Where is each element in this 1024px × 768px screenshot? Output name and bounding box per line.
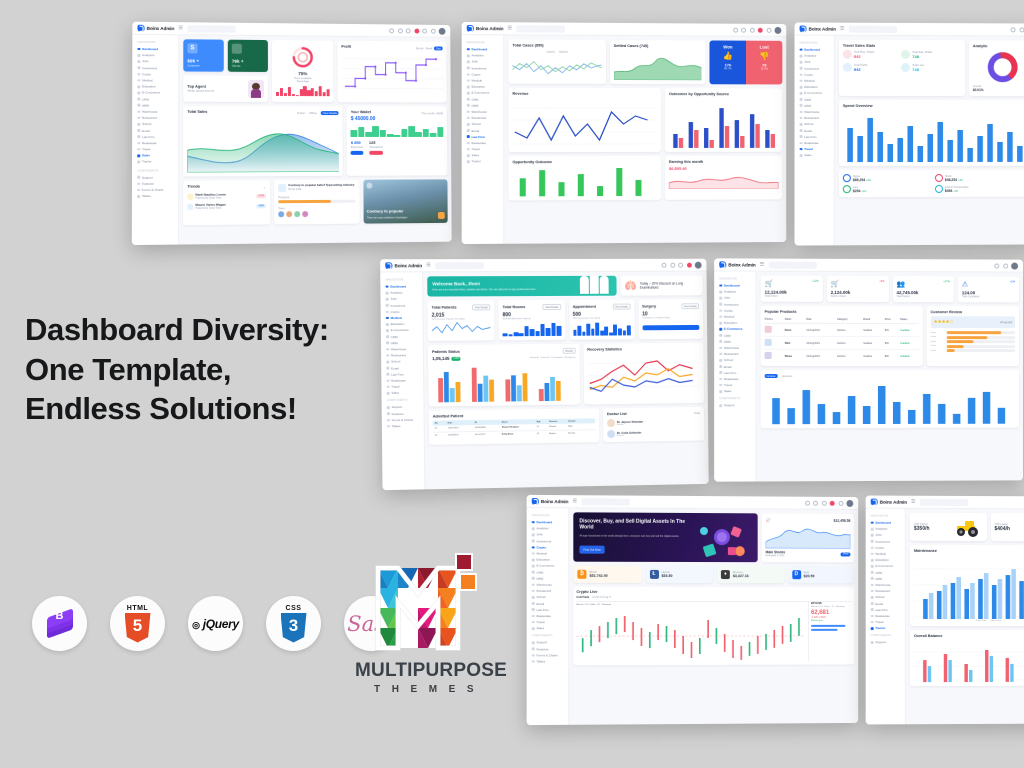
return-orders-icon: 🛒 <box>831 280 840 288</box>
bitcoin-value: $52,742.40 <box>590 574 608 578</box>
table-row[interactable]: Dress 24/Aug/2021 Fashion Swallow $45 Av… <box>765 324 919 337</box>
product-thumb <box>765 326 772 333</box>
team-label: Team <box>278 206 356 211</box>
total-sales-button[interactable]: View Details <box>321 111 339 115</box>
stocks-chart-icon: 📈 <box>766 517 771 522</box>
jcb-loader-value: $404/h <box>994 526 1010 532</box>
complaints-change: +2% <box>1010 280 1015 283</box>
wallet-amount: $ 45000.00 <box>351 116 443 122</box>
popular-products-title: Popular Products <box>765 310 919 314</box>
hotels-icon <box>935 174 943 182</box>
patients-status-chart <box>432 361 576 403</box>
jquery-icon: ◎ jQuery <box>188 596 243 651</box>
maintenance-title: Maintenance <box>914 549 1024 553</box>
hotels-value: $48,254 <box>945 177 957 181</box>
sidebar-item-tractor[interactable]: Tractor <box>869 625 902 631</box>
sidebar-item-sales[interactable]: Sales <box>798 152 831 158</box>
litecoin-value: $53.50 <box>661 574 672 578</box>
brand-logo-subtitle: T H E M E S <box>355 684 497 695</box>
app-logo-icon <box>385 262 392 269</box>
patients-status-title: Patients Status <box>432 350 460 354</box>
headline-line-3: Endless Solutions! <box>25 389 329 429</box>
dashboard-tractor[interactable]: Boinx Admin ☰ NAVIGATION Dashboard Analy… <box>866 496 1024 725</box>
sidebar: NAVIGATION Dashboard Analytics Jobs Inve… <box>527 508 570 725</box>
menu-toggle-icon[interactable]: ☰ <box>911 499 916 505</box>
app-name: Boinx Admin <box>394 263 422 268</box>
dashboard-crypto[interactable]: Boinx Admin ☰ NAVIGATION Dashboard Analy… <box>527 495 859 725</box>
jcb-tractor-value: $350/h <box>914 525 930 531</box>
sidebar-header: NAVIGATION <box>467 41 501 44</box>
ground-transport-icon <box>935 185 943 193</box>
profit-btn-day[interactable]: Day <box>434 46 442 50</box>
gauge-sub: Percentage <box>276 80 330 83</box>
cars-value: $254 <box>853 189 861 193</box>
outcomes-chart <box>669 98 778 148</box>
analytic-donut-chart <box>985 50 1019 84</box>
sale-tickets-icon <box>901 50 910 59</box>
css3-label: CSS <box>279 605 309 612</box>
trends-title: Trends <box>187 185 200 189</box>
trend-tag-2: +08% <box>256 204 266 208</box>
app-name: Boinx Admin <box>147 25 175 30</box>
orders-label: Total Orders <box>765 295 819 298</box>
tech-badge-list: B HTML ◎ jQuery CSS Sass <box>32 596 399 651</box>
search-input[interactable] <box>187 25 235 32</box>
cars-icon <box>843 185 851 193</box>
sidebar-header: NAVIGATION <box>719 277 752 280</box>
image-card[interactable]: Contrary to popular There are many varia… <box>364 179 448 223</box>
surgery-button[interactable]: View Details <box>681 303 699 309</box>
topbar: Boinx Admin ☰ <box>714 258 1023 272</box>
sidebar-header: NAVIGATION <box>385 278 419 281</box>
crypto-live-toolbar[interactable]: 1m 5m 1h D ▤ ☷ <box>592 596 611 599</box>
candlestick-chart <box>576 608 805 662</box>
jquery-label: jQuery <box>203 617 239 631</box>
logo-mark-icon <box>368 552 484 656</box>
thumbs-down-icon: 👎 <box>750 52 778 61</box>
ground-transport-change: +1% <box>953 189 958 192</box>
sidebar-item-sales[interactable]: Sales <box>385 390 421 397</box>
product-thumb <box>765 352 772 359</box>
sidebar: NAVIGATION Dashboard Analytics Jobs Inve… <box>132 35 179 245</box>
total-sales-chart <box>187 116 339 173</box>
clients-label: Clients <box>232 64 264 68</box>
table-row[interactable]: Shirt 24/Aug/2021 Fashion Swallow $50 Av… <box>765 337 919 350</box>
surgery-title: Surgery <box>642 305 656 309</box>
customer-label: Customer <box>187 63 219 67</box>
fullscreen-icon[interactable] <box>838 500 843 505</box>
dashboard-travel[interactable]: Boinx Admin ☰ NAVIGATION Dashboard Analy… <box>794 22 1024 245</box>
main-stocks-value: $12,458.58 <box>834 518 851 522</box>
legend-emergency: Emergency <box>564 356 575 358</box>
html5-label: HTML <box>123 605 153 612</box>
menu-toggle-icon[interactable]: ☰ <box>178 25 183 31</box>
app-logo-icon <box>719 261 726 268</box>
profits-value: 842 <box>854 66 868 71</box>
app-logo-icon <box>871 498 878 505</box>
avatar[interactable] <box>846 499 853 506</box>
gear-icon[interactable] <box>670 262 675 267</box>
gear-icon[interactable] <box>397 28 402 33</box>
dash-value: $20.59 <box>804 574 815 578</box>
wallet-title: Your Wallet <box>351 110 371 114</box>
sidebar-item-support[interactable]: Support <box>869 639 902 645</box>
analytic-legend-value: 80.01% <box>973 88 1024 92</box>
return-orders-change: +5% <box>879 280 884 283</box>
won-label: Won <box>714 44 743 49</box>
menu-toggle-icon[interactable]: ☰ <box>840 26 845 32</box>
moon-icon[interactable] <box>733 27 738 32</box>
opportunity-title: Opportunity Outcome <box>512 160 657 164</box>
chat-icon[interactable] <box>749 27 754 32</box>
flights-icon <box>843 174 851 182</box>
sidebar-header: NAVIGATION <box>800 42 831 45</box>
main-stocks-chart <box>766 522 851 548</box>
headline-line-2: One Template, <box>25 350 329 390</box>
surgery-sub: 5 Surgeries scheduled Today <box>642 317 699 319</box>
table-row[interactable]: Shoes 24/Aug/2021 Fashion Swallow $80 Av… <box>765 350 919 362</box>
trend-sub-2: Powered by Study Tests <box>195 207 225 210</box>
customer-review-title: Customer Review <box>930 310 1015 314</box>
litecoin-icon: Ł <box>649 570 658 579</box>
notification-icon[interactable] <box>830 500 835 505</box>
app-name: Boinx Admin <box>880 499 907 504</box>
page-title: Dashboard Diversity: One Template, Endle… <box>25 310 329 429</box>
req-tickets-icon <box>843 50 852 59</box>
sidebar-footer-header: COMPONENTS <box>387 399 421 402</box>
search-input[interactable] <box>919 498 967 505</box>
building-icon <box>232 44 242 54</box>
crypto-live-title: Crypto Live <box>576 590 851 594</box>
table-header: Photos Name Date Category Brand Price St… <box>765 316 919 324</box>
crypto-pair-sub: Bitcoin / U.S. Dollar · 1D · Bitstamp <box>811 606 851 608</box>
transaction-label: Transaction <box>369 145 383 149</box>
dash-icon: D <box>792 570 801 579</box>
crypto-symbol: BTCUSD <box>811 602 851 605</box>
main-stocks-button[interactable]: View <box>841 552 850 556</box>
notification-icon[interactable] <box>414 28 419 33</box>
app-name: Boinx Admin <box>476 26 503 31</box>
topbar: Boinx Admin ☰ <box>794 22 1024 36</box>
app-name: Boinx Admin <box>541 499 568 504</box>
gauge-icon <box>290 45 316 69</box>
sidebar-footer-header: COMPONENTS <box>137 169 175 172</box>
loss-icon <box>901 63 910 72</box>
total-sales-title: Total Sales <box>187 110 207 114</box>
revenue-title: Revenue <box>512 92 657 96</box>
moon-icon[interactable] <box>994 263 999 268</box>
sidebar-item-tractor[interactable]: Tractor <box>135 159 175 165</box>
surgery-progress-bar <box>642 325 699 330</box>
table-row[interactable]: 02 12/06/2021 001-61277 Kelly Reed 31 An… <box>433 431 595 439</box>
legend-other-total: Other Total <box>990 620 1001 622</box>
avatar <box>607 419 615 427</box>
revenue-chart <box>512 98 657 148</box>
moon-icon[interactable] <box>805 500 810 505</box>
search-input[interactable] <box>848 25 896 32</box>
dashboard-medical[interactable]: Boinx Admin ☰ NAVIGATION Dashboard Analy… <box>380 259 709 490</box>
spend-overview-chart <box>843 110 1024 162</box>
profits-icon <box>843 63 852 72</box>
appointment-button[interactable]: View Details <box>612 304 630 310</box>
list-item[interactable]: Dr. Jayson Shantani Dentist <box>607 418 700 427</box>
admitted-title: Admitted Patient <box>433 414 464 418</box>
doctors-illustration <box>580 276 609 294</box>
menu-toggle-icon[interactable]: ☰ <box>507 25 512 31</box>
profit-btn-week[interactable]: Week <box>426 46 433 50</box>
crypto-status: Market open <box>811 620 851 622</box>
agent-avatar <box>248 80 264 98</box>
wallet-period: This month +$100 <box>421 111 443 115</box>
sidebar-item-tables[interactable]: Tables <box>530 658 566 664</box>
chevron-down-icon[interactable]: ⌄ <box>263 184 266 190</box>
dashboard-ecommerce[interactable]: Boinx Admin ☰ NAVIGATION Dashboard Analy… <box>714 258 1023 481</box>
total-rooms-button[interactable]: View Details <box>543 304 561 310</box>
crypto-illustration <box>694 521 752 562</box>
legend-patient-b: Patient B <box>541 357 550 359</box>
sidebar: NAVIGATION Dashboard Analytics Jobs Inve… <box>714 271 756 481</box>
overall-balance-chart <box>914 640 1024 682</box>
legend-settled: Settled <box>559 50 568 54</box>
orders-change: +12% <box>812 280 819 283</box>
bootstrap-icon: B <box>32 596 87 651</box>
legend-patient-a: Patient A <box>530 357 539 359</box>
topbar: Boinx Admin ☰ <box>380 259 706 273</box>
total-cases-chart <box>512 53 601 77</box>
main-stocks-sub: Estimated in USD <box>766 554 786 557</box>
html5-icon: HTML <box>110 596 165 651</box>
app-logo-icon <box>800 25 807 32</box>
sidebar: NAVIGATION Dashboard Analytics Jobs Inve… <box>380 272 425 490</box>
sidebar: NAVIGATION Dashboard Analytics Jobs Inve… <box>462 35 505 244</box>
flag-icon[interactable] <box>430 28 435 33</box>
income-chart <box>765 378 1015 424</box>
thumbs-up-icon: 👍 <box>714 51 743 60</box>
sidebar-footer-header: COMPONENTS <box>532 635 566 638</box>
welcome-sub: Here are your important facts, updates a… <box>432 288 540 292</box>
chat-icon[interactable] <box>821 500 826 505</box>
total-rooms-sub: 8000 Available Bed Capacity <box>503 318 561 320</box>
progress-label: Progress <box>278 195 356 199</box>
search-input[interactable] <box>768 261 816 268</box>
list-item[interactable]: Dr. Carla Schlesfer Dentist <box>607 429 700 438</box>
menu-toggle-icon[interactable]: ☰ <box>426 262 431 268</box>
settled-cases-chart <box>614 50 702 80</box>
crypto-live-pair: Bitcoin / U.S. Dollar · 1D · Bitstamp <box>576 604 805 606</box>
progress-bar <box>278 200 356 204</box>
fullscreen-icon[interactable] <box>422 28 427 33</box>
brand-logo-title: MULTIPURPOSE <box>355 660 497 682</box>
moon-icon[interactable] <box>1011 27 1016 32</box>
patients-status-button[interactable]: Weekly <box>563 348 576 354</box>
gear-icon[interactable] <box>813 500 818 505</box>
crypto-change: -1,299 -2.84% <box>811 616 851 619</box>
outcomes-title: Outcomes by Opportunity Source <box>669 92 778 96</box>
menu-toggle-icon[interactable]: ☰ <box>572 498 577 504</box>
appointment-title: Appointment <box>573 305 596 309</box>
legend-online: Online <box>297 111 305 115</box>
crypto-hero-sub: All type blockchain in the world already… <box>579 534 679 538</box>
trend-sub-1: Powered by Study Tests <box>195 197 225 200</box>
search-input[interactable] <box>581 498 629 505</box>
orders-icon: 🛒 <box>765 280 774 288</box>
promo-text: Today – 20% Discount on Lung Examination… <box>640 281 699 289</box>
legend-inquiry: Inquiry <box>546 50 554 54</box>
css3-icon: CSS <box>266 596 321 651</box>
legend-discharged: Discharged <box>551 357 562 359</box>
patients-status-badge: +12% <box>451 357 460 361</box>
return-orders-label: Return Orders <box>831 295 885 298</box>
sidebar-footer-header: COMPONENTS <box>871 634 902 637</box>
image-card-sub: There are many variations of passages <box>367 216 408 219</box>
complaints-label: Total Complaints <box>962 295 1015 298</box>
image-card-caption: Contrary to popular <box>367 208 404 213</box>
notification-icon[interactable] <box>686 262 691 267</box>
hotels-change: +3% <box>958 178 963 181</box>
top-agent-sub: Whati Jaracis Demoli <box>187 89 214 93</box>
crypto-hero-title: Discover, Buy, and Sell Digital Assets I… <box>579 518 686 531</box>
lost-pct: 15.3% <box>750 67 778 70</box>
overall-balance-title: Overall Balance <box>914 634 1024 638</box>
spend-overview-title: Spend Overview <box>843 104 1024 108</box>
complaints-icon: ⚠ <box>962 280 968 288</box>
bootstrap-letter: B <box>56 610 64 622</box>
tab-expense[interactable]: Expense <box>780 374 794 378</box>
visitors-change: +27% <box>943 280 950 283</box>
dashboard-sales[interactable]: Boinx Admin ☰ NAVIGATION Dashboard Analy… <box>132 22 452 245</box>
settled-cases-title: Settled Cases (745) <box>614 44 702 48</box>
headline-line-1: Dashboard Diversity: <box>25 310 329 350</box>
loss-value: 748 <box>912 66 924 71</box>
total-rooms-title: Total Rooms <box>503 305 526 309</box>
sidebar-item-support[interactable]: Support <box>717 403 752 409</box>
doctor-list-title: Doctor List <box>607 412 627 416</box>
profit-title: Profit <box>341 45 351 49</box>
sidebar-item-sales[interactable]: Sales <box>530 625 566 631</box>
analytic-title: Analytic <box>973 44 1024 48</box>
req-tickets-value: 842 <box>854 53 875 58</box>
sidebar-item-tractor[interactable]: Tractor <box>465 159 501 165</box>
opportunity-chart <box>512 166 657 196</box>
sidebar: NAVIGATION Dashboard Analytics Jobs Inve… <box>866 509 906 725</box>
gear-icon[interactable] <box>741 27 746 32</box>
image-card-action-button[interactable] <box>438 212 445 219</box>
legend-time-total: Time Total <box>976 620 986 622</box>
menu-toggle-icon[interactable]: ☰ <box>760 262 765 268</box>
won-pct: 84.7% <box>714 67 743 70</box>
sale-tickets-value: 748 <box>912 53 932 58</box>
progress-card-date: 05 Jan 2024 <box>288 187 354 190</box>
travel-stats-title: Travel Sales Stats <box>843 44 961 48</box>
brand-logo: MULTIPURPOSE T H E M E S <box>355 552 497 695</box>
appointment-sub: 24% Increased in This Week <box>573 318 631 320</box>
search-input[interactable] <box>435 262 484 269</box>
sidebar: NAVIGATION Dashboard Analytics Jobs Inve… <box>794 36 834 246</box>
expenses-label: Expenses <box>351 145 363 149</box>
avatar[interactable] <box>774 26 781 33</box>
flights-change: +5% <box>866 179 871 182</box>
total-cases-title: Total Cases (850) <box>512 43 543 47</box>
trend-tag-1: +15% <box>256 194 266 198</box>
sidebar-footer-header: COMPONENTS <box>719 397 752 400</box>
image-card-avatar <box>367 183 373 189</box>
visitors-icon: 👥 <box>896 280 905 288</box>
doctor-list-period: Today <box>694 412 700 415</box>
sidebar-header: NAVIGATION <box>532 514 566 517</box>
cars-change: +1% <box>861 190 866 193</box>
notification-icon[interactable] <box>758 27 763 32</box>
product-thumb <box>765 339 772 346</box>
flights-value: $85,254 <box>853 178 865 182</box>
legend-offline: Offline <box>309 111 317 115</box>
star-rating-icon: ★★★★☆ <box>933 319 953 325</box>
gear-icon[interactable] <box>1003 263 1008 268</box>
topbar: Boinx Admin ☰ <box>866 496 1024 510</box>
crypto-live-button[interactable]: CoinTrade <box>576 596 589 599</box>
ethereum-value: $3,327.16 <box>733 574 749 578</box>
rating-value: 4.5 out of 5 <box>1000 321 1012 324</box>
promo-banner: Dashboard Diversity: One Template, Endle… <box>0 0 1024 768</box>
app-name: Boinx Admin <box>809 26 836 31</box>
profit-btn-month[interactable]: Month <box>416 46 424 50</box>
find-out-now-button[interactable]: Find Out Now <box>579 545 604 553</box>
customer-icon: S <box>187 43 197 53</box>
maintenance-chart <box>914 555 1024 619</box>
recovery-title: Recovery Statistics <box>587 347 699 352</box>
earning-title: Earning this month <box>669 160 778 164</box>
chat-icon[interactable] <box>678 262 683 267</box>
lungs-icon: 🫁 <box>625 280 637 291</box>
chat-icon[interactable] <box>406 28 411 33</box>
sidebar-item-sales[interactable]: Sales <box>717 388 752 394</box>
app-logo-icon <box>532 497 539 504</box>
app-logo-icon <box>467 25 474 32</box>
dashboard-law-firm[interactable]: Boinx Admin ☰ NAVIGATION Dashboard Analy… <box>462 22 787 244</box>
avatar <box>607 430 615 438</box>
moon-icon[interactable] <box>662 262 667 267</box>
visitors-label: Total Visitors <box>896 295 949 298</box>
bitcoin-icon: ₿ <box>577 570 586 579</box>
app-name: Boinx Admin <box>728 262 755 267</box>
earning-chart <box>669 171 778 189</box>
app-logo-icon <box>137 24 144 31</box>
patients-status-value: 1,05,145 <box>432 356 449 361</box>
total-patients-button[interactable]: View Details <box>472 305 490 311</box>
sidebar-item-tables[interactable]: Tables <box>385 423 421 430</box>
avatar[interactable] <box>695 261 702 268</box>
total-patients-title: Total Patients <box>432 306 457 310</box>
gear-icon[interactable] <box>1019 27 1024 32</box>
ethereum-icon: ♦ <box>721 570 730 579</box>
avatar[interactable] <box>439 27 446 34</box>
sidebar-header: NAVIGATION <box>137 41 175 44</box>
ground-transport-value: $454 <box>945 188 953 192</box>
sidebar-item-tables[interactable]: Tables <box>135 193 175 200</box>
flag-icon[interactable] <box>766 27 771 32</box>
tractor-icon <box>952 517 982 537</box>
sidebar-header: NAVIGATION <box>871 515 902 518</box>
moon-icon[interactable] <box>389 28 394 33</box>
search-input[interactable] <box>516 25 564 32</box>
tab-income[interactable]: Income <box>765 374 778 378</box>
lost-label: Lost <box>750 45 778 50</box>
avatar[interactable] <box>1011 262 1018 269</box>
recovery-chart <box>587 353 700 398</box>
profit-chart <box>341 51 443 95</box>
total-patients-sparkline <box>432 321 491 338</box>
